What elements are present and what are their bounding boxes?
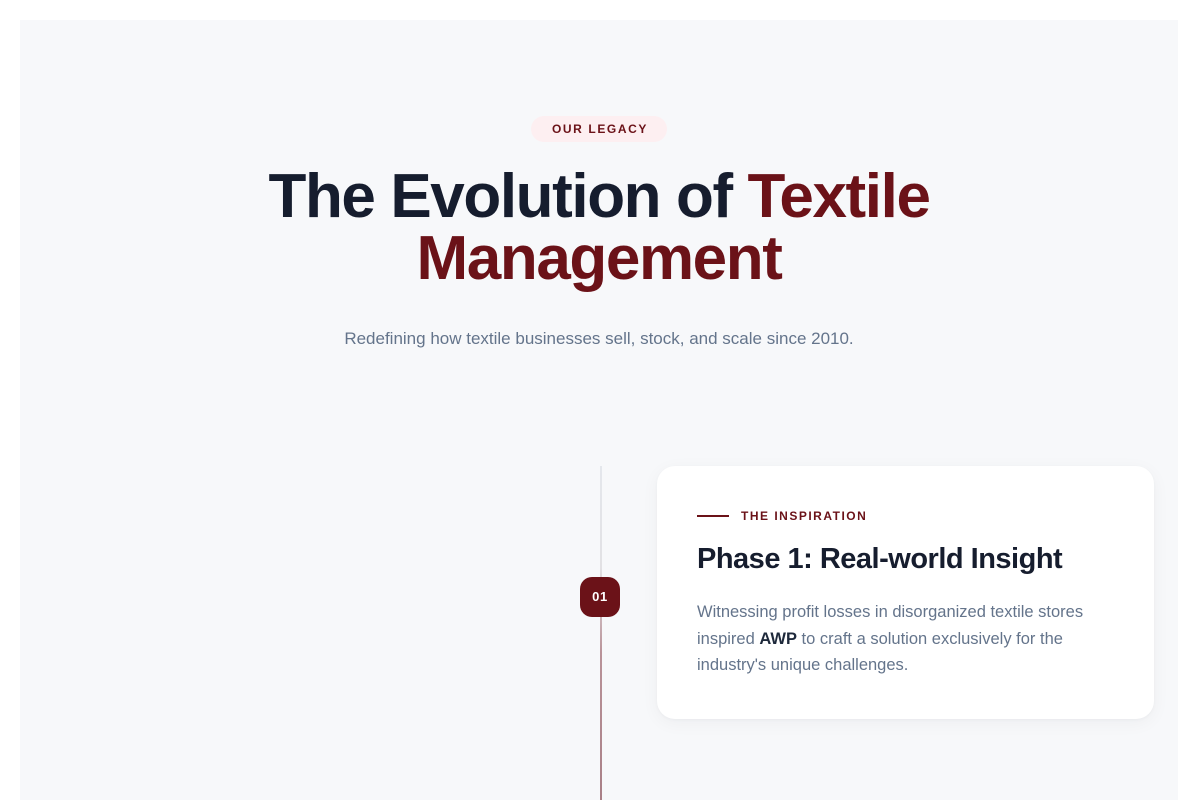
timeline-node-badge[interactable]: 01 <box>580 577 620 617</box>
card-body-emphasis: AWP <box>759 630 797 648</box>
timeline: 01 THE INSPIRATION Phase 1: Real-world I… <box>20 466 1178 800</box>
hero-eyebrow-badge: OUR LEGACY <box>531 116 667 142</box>
legacy-section: OUR LEGACY The Evolution of Textile Mana… <box>20 20 1178 800</box>
hero-subtitle: Redefining how textile businesses sell, … <box>20 326 1178 352</box>
page-root: OUR LEGACY The Evolution of Textile Mana… <box>0 0 1200 800</box>
page-title: The Evolution of Textile Management <box>219 166 979 290</box>
phase-card[interactable]: THE INSPIRATION Phase 1: Real-world Insi… <box>657 466 1154 720</box>
hero: OUR LEGACY The Evolution of Textile Mana… <box>20 20 1178 352</box>
dash-icon <box>697 515 729 517</box>
page-title-primary: The Evolution of <box>268 162 747 231</box>
card-body: Witnessing profit losses in disorganized… <box>697 599 1114 679</box>
card-eyebrow: THE INSPIRATION <box>697 510 1114 522</box>
card-title: Phase 1: Real-world Insight <box>697 542 1114 577</box>
card-eyebrow-label: THE INSPIRATION <box>741 510 867 522</box>
timeline-item-01: 01 THE INSPIRATION Phase 1: Real-world I… <box>20 466 1178 746</box>
